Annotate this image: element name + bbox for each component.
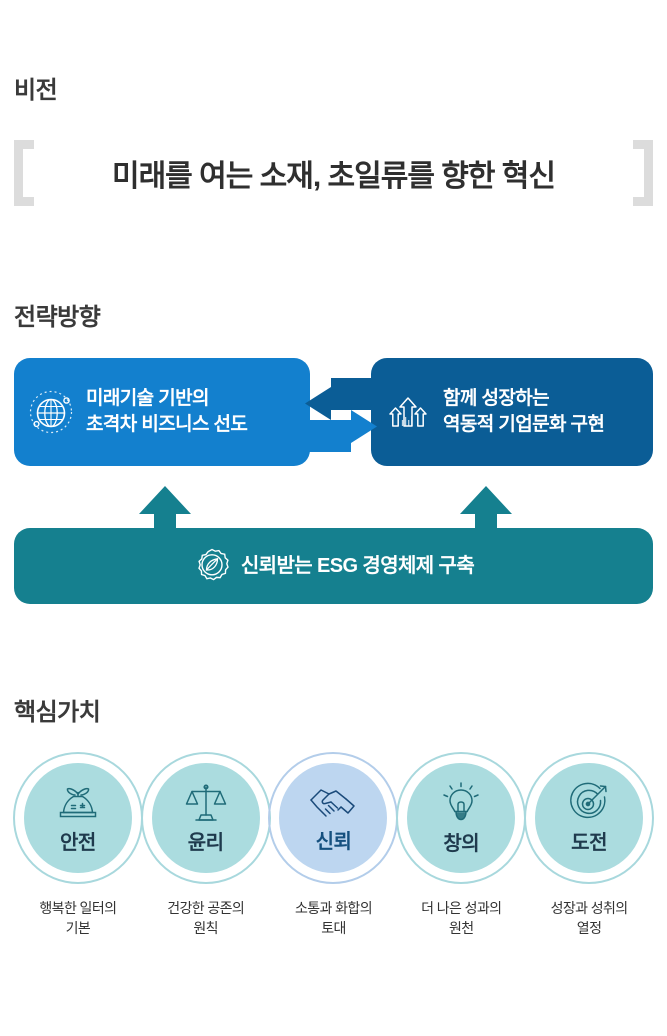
core-value-creativity-caption: 더 나은 성과의 원천 xyxy=(397,898,525,939)
core-value-ethics-label: 윤리 xyxy=(188,826,224,855)
core-value-ethics-caption: 건강한 공존의 원칙 xyxy=(142,898,270,939)
lightbulb-icon xyxy=(440,781,482,825)
core-values-row: 안전 xyxy=(14,752,653,884)
value-disc: 창의 xyxy=(407,763,515,873)
core-value-safety[interactable]: 안전 xyxy=(14,752,142,884)
strategy-box-culture-label: 함께 성장하는 역동적 기업문화 구현 xyxy=(443,386,604,437)
strategy-box-esg-label: 신뢰받는 ESG 경영체제 구축 xyxy=(241,553,474,580)
strategy-box-culture[interactable]: 함께 성장하는 역동적 기업문화 구현 xyxy=(371,358,653,466)
gear-leaf-icon xyxy=(193,547,231,585)
exchange-arrow-icon xyxy=(305,376,377,454)
strategy-box-esg[interactable]: 신뢰받는 ESG 경영체제 구축 xyxy=(14,528,653,604)
bracket-left-icon xyxy=(14,140,34,206)
vision-statement-text: 미래를 여는 소재, 초일류를 향한 혁신 xyxy=(112,151,555,195)
vision-section-heading: 비전 xyxy=(14,70,57,105)
value-disc: 도전 xyxy=(535,763,643,873)
vision-statement-banner: 미래를 여는 소재, 초일류를 향한 혁신 xyxy=(14,134,653,212)
core-value-creativity[interactable]: 창의 xyxy=(397,752,525,884)
core-value-trust-label: 신뢰 xyxy=(316,825,352,854)
bracket-right-icon xyxy=(633,140,653,206)
core-values-section-heading: 핵심가치 xyxy=(14,692,100,727)
strategy-box-technology[interactable]: 미래기술 기반의 초격차 비즈니스 선도 xyxy=(14,358,310,466)
core-value-safety-label: 안전 xyxy=(60,826,96,855)
core-value-challenge-label: 도전 xyxy=(571,826,607,855)
core-values-captions-row: 행복한 일터의 기본 건강한 공존의 원칙 소통과 화합의 토대 더 나은 성과… xyxy=(14,898,653,939)
core-value-trust-caption: 소통과 화합의 토대 xyxy=(270,898,398,939)
handshake-icon xyxy=(308,783,358,823)
core-value-challenge[interactable]: 도전 xyxy=(525,752,653,884)
vision-strategy-infographic: 비전 미래를 여는 소재, 초일류를 향한 혁신 전략방향 미래기술 기반의 초… xyxy=(0,0,667,1036)
strategy-section-heading: 전략방향 xyxy=(14,297,100,332)
core-value-creativity-label: 창의 xyxy=(443,827,479,856)
core-value-trust[interactable]: 신뢰 xyxy=(270,752,398,884)
value-disc: 신뢰 xyxy=(279,763,387,873)
scales-balance-icon xyxy=(184,782,228,824)
core-value-ethics[interactable]: 윤리 xyxy=(142,752,270,884)
value-disc: 윤리 xyxy=(152,763,260,873)
strategy-box-technology-label: 미래기술 기반의 초격차 비즈니스 선도 xyxy=(86,386,247,437)
target-arrow-icon xyxy=(567,782,611,824)
money-bag-sprout-icon xyxy=(55,782,101,824)
value-disc: 안전 xyxy=(24,763,132,873)
globe-icon xyxy=(28,389,74,435)
core-value-safety-caption: 행복한 일터의 기본 xyxy=(14,898,142,939)
core-value-challenge-caption: 성장과 성취의 열정 xyxy=(525,898,653,939)
growth-arrows-icon xyxy=(385,389,431,435)
